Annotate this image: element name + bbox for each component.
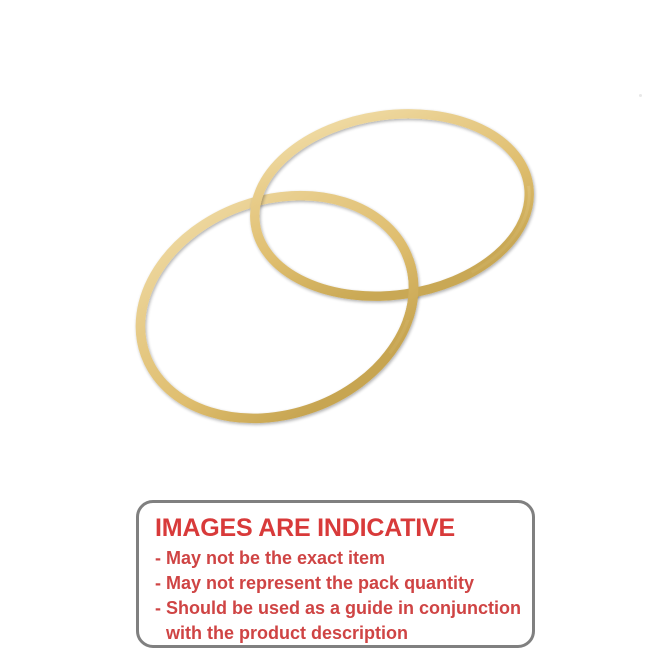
images-indicative-notice: IMAGES ARE INDICATIVE - May not be the e… (136, 500, 535, 648)
disclaimer-line-4: with the product description (166, 621, 518, 646)
image-speck-artifact (639, 94, 642, 97)
product-photo (0, 0, 670, 470)
disclaimer-line-2: - May not represent the pack quantity (155, 571, 518, 596)
disclaimer-title: IMAGES ARE INDICATIVE (155, 513, 518, 543)
oring-lower-left (109, 159, 445, 456)
disclaimer-line-3: - Should be used as a guide in conjuncti… (155, 596, 518, 621)
oring-upper-right (243, 97, 541, 314)
oring-lower-left-overlap (109, 159, 445, 456)
disclaimer-line-1: - May not be the exact item (155, 546, 518, 571)
product-image-screenshot: IMAGES ARE INDICATIVE - May not be the e… (0, 0, 670, 670)
